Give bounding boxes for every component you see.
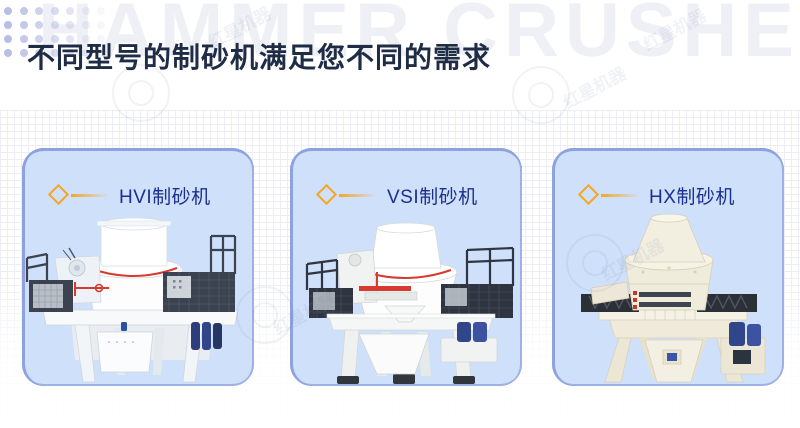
decorative-dot bbox=[20, 7, 28, 15]
icon-tail-decoration bbox=[601, 194, 639, 197]
decorative-dot bbox=[82, 7, 90, 15]
machine-image-hvi bbox=[13, 210, 263, 390]
decorative-dot bbox=[35, 7, 43, 15]
decorative-dot bbox=[4, 7, 12, 15]
decorative-dot bbox=[51, 21, 59, 29]
machine-image-hx bbox=[543, 210, 793, 390]
decorative-dot bbox=[66, 7, 74, 15]
decorative-dot bbox=[4, 49, 12, 57]
icon-tail-decoration bbox=[71, 194, 109, 197]
decorative-dot bbox=[4, 21, 12, 29]
decorative-dot bbox=[97, 21, 105, 29]
decorative-dot bbox=[35, 21, 43, 29]
card-title: HX制砂机 bbox=[649, 182, 735, 209]
card-title: VSI制砂机 bbox=[387, 182, 478, 209]
card-header: HX制砂机 bbox=[552, 178, 784, 212]
diamond-icon bbox=[578, 184, 600, 206]
machine-image-vsi bbox=[281, 210, 531, 390]
decorative-dot bbox=[4, 35, 12, 43]
decorative-dot bbox=[20, 21, 28, 29]
decorative-dot bbox=[51, 7, 59, 15]
product-card-hvi[interactable]: HVI制砂机 bbox=[22, 148, 254, 386]
banner-header: HAMMER CRUSHER 不同型号的制砂机满足您不同的需求 bbox=[0, 0, 800, 110]
page-title: 不同型号的制砂机满足您不同的需求 bbox=[27, 36, 491, 76]
decorative-dot bbox=[97, 7, 105, 15]
card-title: HVI制砂机 bbox=[119, 182, 211, 209]
diamond-icon bbox=[48, 184, 70, 206]
decorative-dot bbox=[66, 21, 74, 29]
diamond-icon bbox=[316, 184, 338, 206]
card-header: HVI制砂机 bbox=[22, 178, 254, 212]
icon-tail-decoration bbox=[339, 194, 377, 197]
product-card-vsi[interactable]: VSI制砂机 bbox=[290, 148, 522, 386]
promo-banner: HAMMER CRUSHER 不同型号的制砂机满足您不同的需求 HVI制砂机 bbox=[0, 0, 800, 428]
card-header: VSI制砂机 bbox=[290, 178, 522, 212]
decorative-dot bbox=[82, 21, 90, 29]
product-card-hx[interactable]: HX制砂机 bbox=[552, 148, 784, 386]
